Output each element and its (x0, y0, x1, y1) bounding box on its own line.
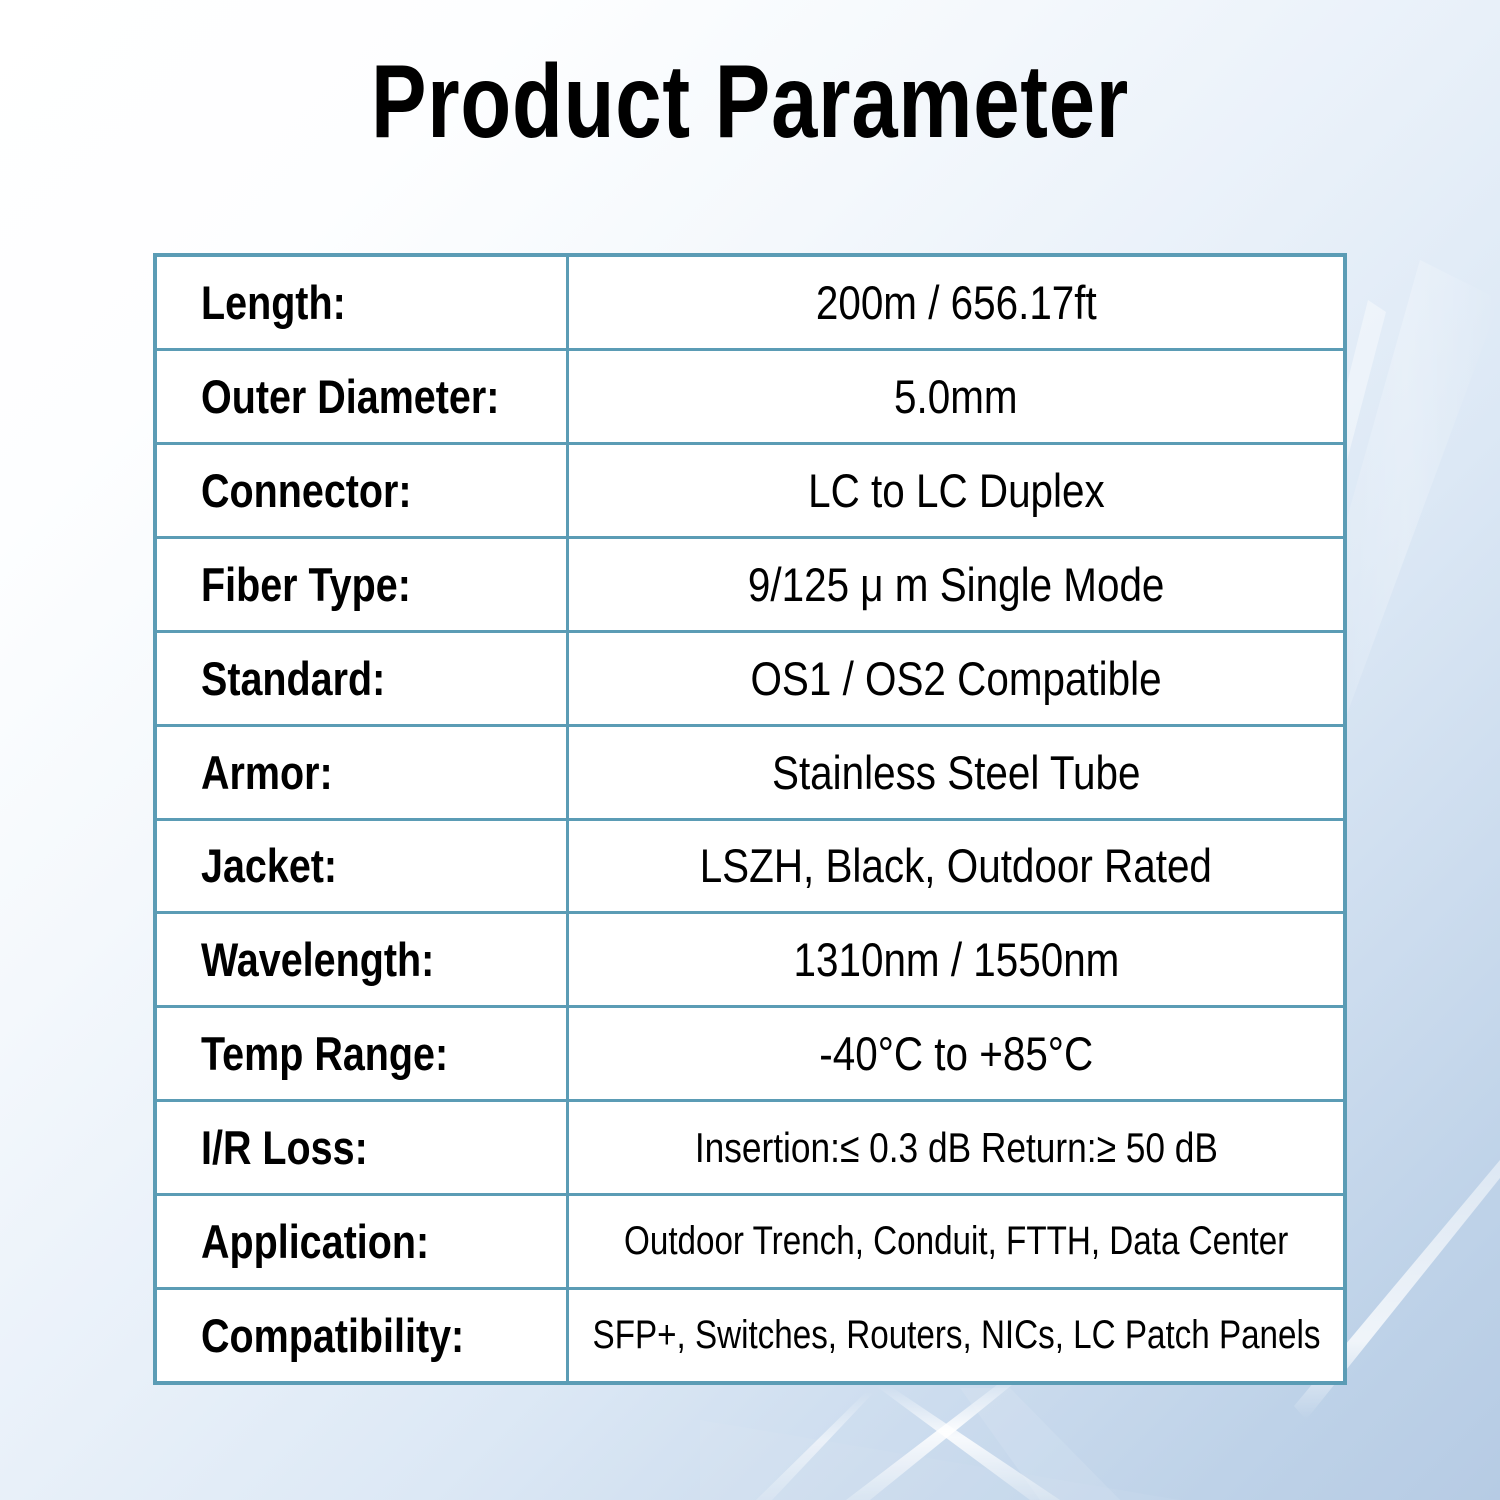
spec-value: LSZH, Black, Outdoor Rated (700, 838, 1212, 893)
table-row-label-cell: Jacket: (157, 821, 569, 912)
table-row-label-cell: Standard: (157, 633, 569, 724)
table-row-value-cell: 1310nm / 1550nm (569, 914, 1343, 1005)
spec-label: Compatibility: (201, 1308, 464, 1363)
spec-label: Application: (201, 1214, 429, 1269)
table-row: Armor: Stainless Steel Tube (157, 727, 1343, 821)
table-row-label-cell: Length: (157, 257, 569, 348)
table-row-value-cell: LSZH, Black, Outdoor Rated (569, 821, 1343, 912)
spec-label: Outer Diameter: (201, 369, 499, 424)
table-row-label-cell: Compatibility: (157, 1290, 569, 1381)
spec-label: Length: (201, 275, 346, 330)
spec-value: Insertion:≤ 0.3 dB Return:≥ 50 dB (694, 1124, 1217, 1172)
spec-value: 5.0mm (894, 369, 1018, 424)
spec-value: Stainless Steel Tube (772, 745, 1141, 800)
table-row: Wavelength: 1310nm / 1550nm (157, 914, 1343, 1008)
table-row: Compatibility: SFP+, Switches, Routers, … (157, 1290, 1343, 1381)
table-row-label-cell: Wavelength: (157, 914, 569, 1005)
table-row-value-cell: Insertion:≤ 0.3 dB Return:≥ 50 dB (569, 1102, 1343, 1193)
spec-value: 9/125 μ m Single Mode (748, 557, 1165, 612)
table-row-label-cell: Fiber Type: (157, 539, 569, 630)
spec-label: Connector: (201, 463, 412, 518)
table-row: Jacket: LSZH, Black, Outdoor Rated (157, 821, 1343, 915)
spec-value: LC to LC Duplex (808, 463, 1105, 518)
table-row-value-cell: SFP+, Switches, Routers, NICs, LC Patch … (569, 1290, 1343, 1381)
table-row: Outer Diameter: 5.0mm (157, 351, 1343, 445)
table-row-label-cell: Connector: (157, 445, 569, 536)
table-row: Connector: LC to LC Duplex (157, 445, 1343, 539)
spec-value: 1310nm / 1550nm (793, 932, 1119, 987)
spec-label: I/R Loss: (201, 1120, 368, 1175)
table-row: Fiber Type: 9/125 μ m Single Mode (157, 539, 1343, 633)
spec-value: OS1 / OS2 Compatible (750, 651, 1161, 706)
spec-label: Wavelength: (201, 932, 434, 987)
spec-value: Outdoor Trench, Conduit, FTTH, Data Cent… (624, 1219, 1288, 1264)
table-row-label-cell: Armor: (157, 727, 569, 818)
spec-label: Standard: (201, 651, 385, 706)
table-row-value-cell: -40°C to +85°C (569, 1008, 1343, 1099)
table-row-value-cell: Outdoor Trench, Conduit, FTTH, Data Cent… (569, 1196, 1343, 1287)
spec-value: 200m / 656.17ft (816, 275, 1097, 330)
table-row-value-cell: OS1 / OS2 Compatible (569, 633, 1343, 724)
page-title: Product Parameter (150, 44, 1350, 160)
spec-label: Jacket: (201, 838, 337, 893)
table-row: Application: Outdoor Trench, Conduit, FT… (157, 1196, 1343, 1290)
spec-label: Fiber Type: (201, 557, 411, 612)
table-row-label-cell: Temp Range: (157, 1008, 569, 1099)
table-row-label-cell: Outer Diameter: (157, 351, 569, 442)
table-row-value-cell: 200m / 656.17ft (569, 257, 1343, 348)
spec-label: Armor: (201, 745, 333, 800)
product-parameter-table: Length: 200m / 656.17ft Outer Diameter: … (153, 253, 1347, 1385)
table-row-label-cell: Application: (157, 1196, 569, 1287)
table-row-value-cell: Stainless Steel Tube (569, 727, 1343, 818)
table-row: Temp Range: -40°C to +85°C (157, 1008, 1343, 1102)
table-row-value-cell: 5.0mm (569, 351, 1343, 442)
table-row-value-cell: LC to LC Duplex (569, 445, 1343, 536)
table-row-label-cell: I/R Loss: (157, 1102, 569, 1193)
table-row: Length: 200m / 656.17ft (157, 257, 1343, 351)
table-row: I/R Loss: Insertion:≤ 0.3 dB Return:≥ 50… (157, 1102, 1343, 1196)
spec-value: SFP+, Switches, Routers, NICs, LC Patch … (592, 1313, 1320, 1358)
table-row: Standard: OS1 / OS2 Compatible (157, 633, 1343, 727)
spec-label: Temp Range: (201, 1026, 448, 1081)
table-row-value-cell: 9/125 μ m Single Mode (569, 539, 1343, 630)
spec-value: -40°C to +85°C (819, 1026, 1093, 1081)
